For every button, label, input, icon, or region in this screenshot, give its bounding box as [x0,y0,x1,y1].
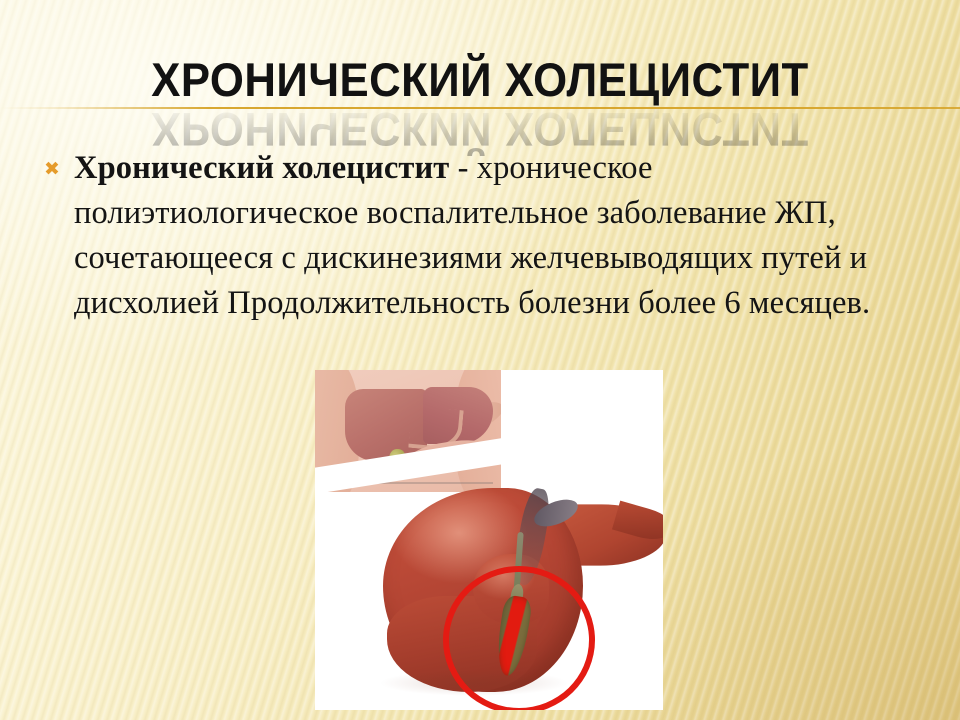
cross-bullet-icon: ✖ [44,160,60,179]
title-block: Хронический холецистит Хронический холец… [0,52,960,152]
slide-background: Хронический холецистит Хронический холец… [0,0,960,720]
list-item: ✖ Хронический холецистит - хроническое п… [36,146,936,326]
page-title: Хронический холецистит [34,52,927,108]
highlight-circle-annotation [443,566,595,710]
definition-paragraph: Хронический холецистит - хроническое пол… [74,146,936,326]
definition-term: Хронический холецистит [74,150,449,186]
body-content: ✖ Хронический холецистит - хроническое п… [36,146,936,326]
title-divider-rule [0,107,960,109]
liver-with-inflamed-gallbladder-circled [323,480,663,708]
illustration-panel [315,370,663,710]
torso-liver-gallbladder-diagram [315,370,501,492]
